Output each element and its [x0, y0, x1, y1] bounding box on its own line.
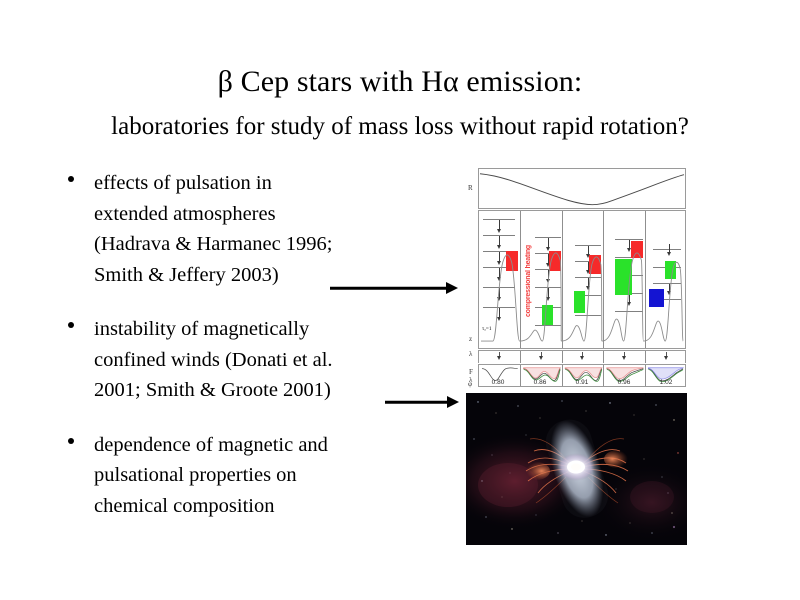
bullet-line: pulsational properties on [94, 460, 462, 491]
radius-curve-plot [479, 169, 685, 208]
lambda-tick [624, 352, 625, 356]
lambda-tick [582, 352, 583, 356]
list-item: dependence of magnetic and pulsational p… [62, 430, 462, 522]
bullet-line: dependence of magnetic and [94, 430, 462, 461]
phase-tick-label: 0.96 [618, 379, 631, 386]
subpanel-divider [520, 351, 521, 363]
bullet-line: instability of magnetically [94, 314, 462, 345]
bullet-dot-icon [68, 438, 74, 444]
page-subtitle: laboratories for study of mass loss with… [0, 111, 800, 143]
list-item: effects of pulsation in extended atmosph… [62, 168, 462, 290]
bullet-line: extended atmospheres [94, 199, 462, 230]
bullet-line: (Hadrava & Harmanec 1996; [94, 229, 462, 260]
phase-tick-label: 0.80 [492, 379, 505, 386]
arrow-shaft [385, 401, 451, 404]
subpanel-divider [603, 351, 604, 363]
magnetic-star-image [466, 393, 687, 545]
panel-radius-curve [478, 168, 686, 209]
axis-label-R: R [468, 184, 473, 192]
list-item: instability of magnetically confined win… [62, 314, 462, 406]
slide-root: β Cep stars with Hα emission: laboratori… [0, 0, 800, 600]
arrow-head-icon [446, 282, 458, 294]
phase-tick-label: 0.91 [576, 379, 589, 386]
magnetic-star-illustration [466, 393, 687, 545]
axis-label-phi: φ [468, 380, 472, 388]
bullet-line: confined winds (Donati et al. [94, 345, 462, 376]
phase-tick-label: 0.86 [534, 379, 547, 386]
phase-tick-label: 1.02 [660, 379, 673, 386]
panel-lambda-ticks [478, 350, 686, 363]
lambda-tick [499, 352, 500, 356]
bullet-dot-icon [68, 322, 74, 328]
lambda-tick [541, 352, 542, 356]
pulsation-atmosphere-figure: R z λ F λ φ [466, 167, 687, 390]
lambda-tick [666, 352, 667, 356]
subpanel-divider [645, 351, 646, 363]
arrow-to-pulsation-figure [330, 281, 460, 295]
axis-label-lambda-mid: λ [469, 350, 472, 358]
subpanel-divider [562, 351, 563, 363]
bullet-dot-icon [68, 176, 74, 182]
arrow-to-magnetic-star-image [385, 395, 463, 409]
phase-tick-labels: 0.80 0.86 0.91 0.96 1.02 [478, 379, 686, 391]
panel-atmosphere-layers: τₐ=1 compressional heating [478, 210, 686, 349]
emission-line-profiles [479, 211, 685, 348]
page-title: β Cep stars with Hα emission: [0, 64, 800, 100]
bullet-line: effects of pulsation in [94, 168, 462, 199]
axis-label-z: z [469, 335, 472, 343]
bullet-line: chemical composition [94, 491, 462, 522]
axis-label-F: F [469, 368, 473, 376]
bullet-list: effects of pulsation in extended atmosph… [62, 168, 462, 543]
arrow-shaft [330, 287, 450, 290]
arrow-head-icon [447, 396, 459, 408]
